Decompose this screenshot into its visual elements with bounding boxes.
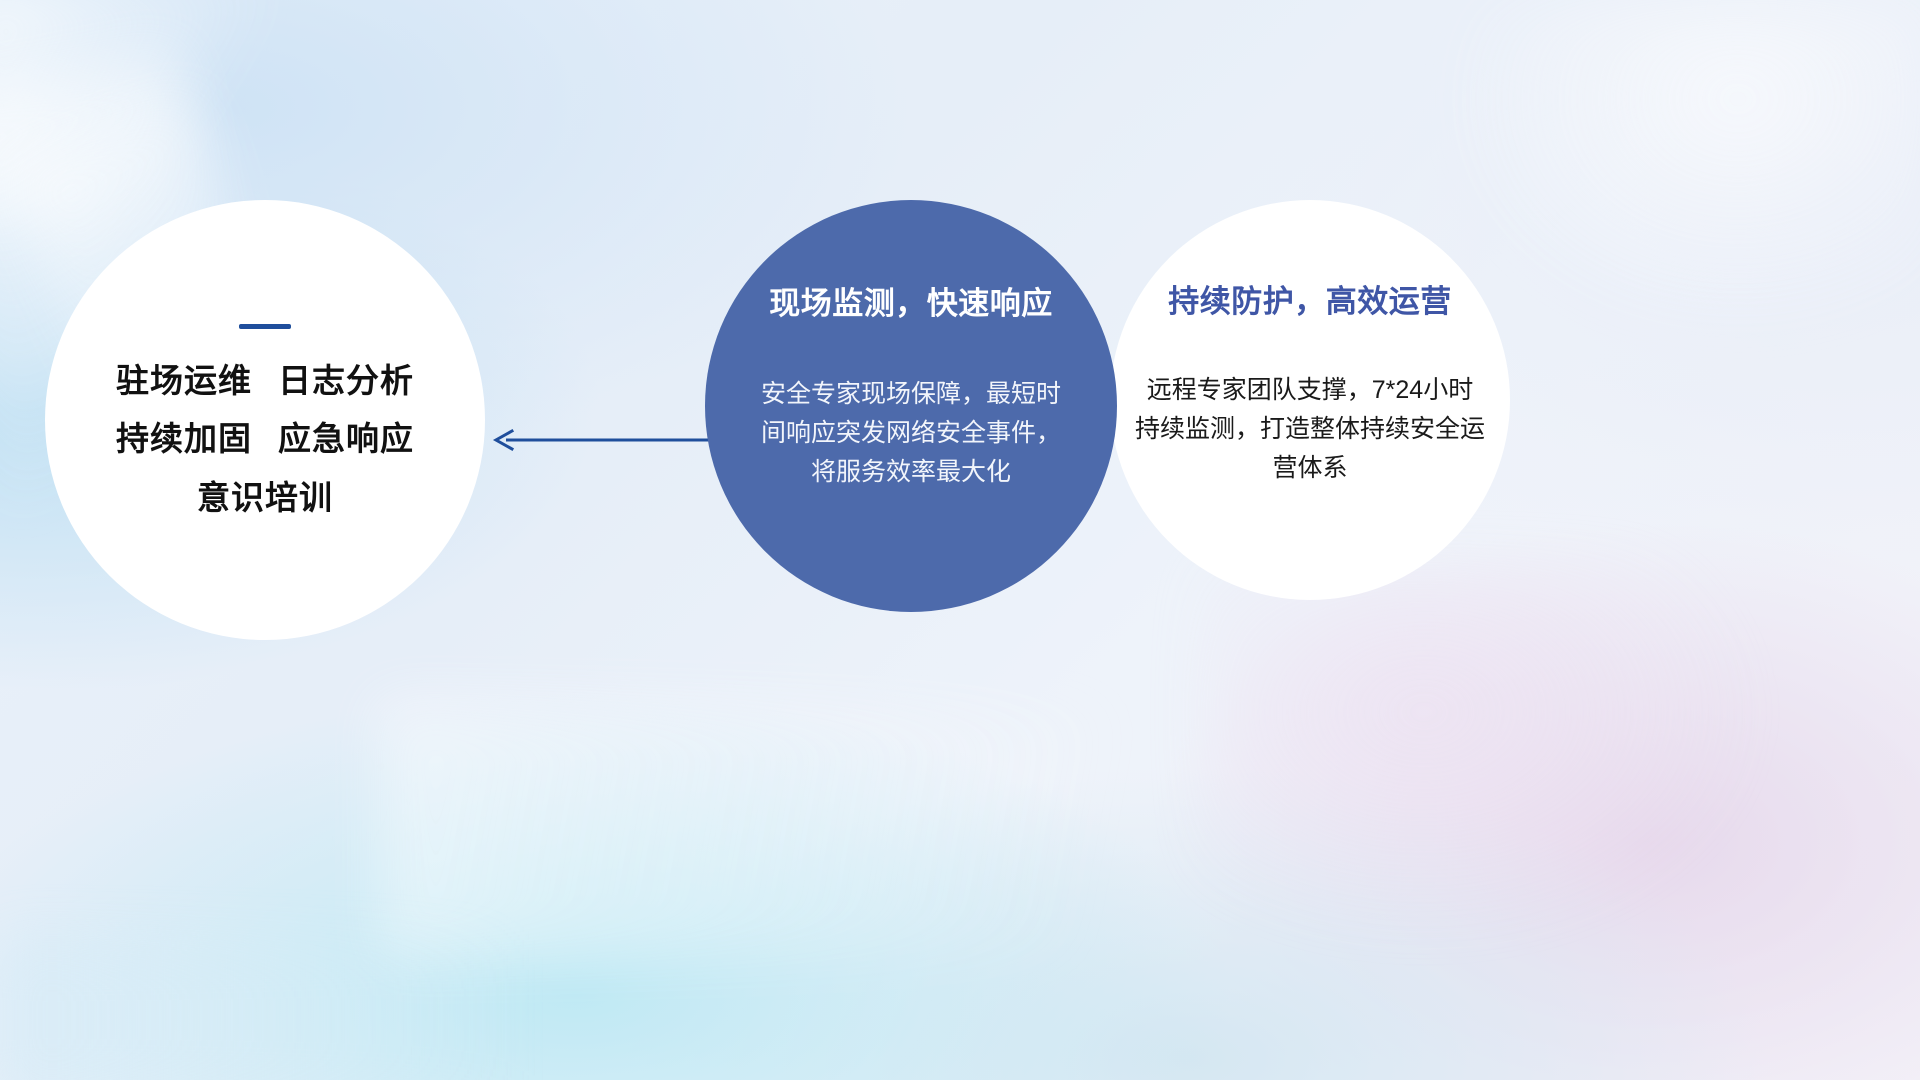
capability-item-zhuchangyunwei: 驻场运维: [116, 362, 252, 399]
slide-canvas: 驻场运维日志分析 持续加固应急响应 意识培训 持续防护，高效运营 远程专家团队支…: [0, 0, 1920, 1080]
capability-row-1: 驻场运维日志分析: [116, 363, 414, 399]
middle-circle-title: 现场监测，快速响应: [769, 278, 1053, 323]
capability-row-3: 意识培训: [197, 480, 333, 516]
feature-circle-right[interactable]: 持续防护，高效运营 远程专家团队支撑，7*24小时持续监测，打造整体持续安全运营…: [1110, 200, 1510, 600]
feature-circle-middle[interactable]: 现场监测，快速响应 安全专家现场保障，最短时间响应突发网络安全事件，将服务效率最…: [705, 200, 1117, 612]
middle-circle-body: 安全专家现场保障，最短时间响应突发网络安全事件，将服务效率最大化: [761, 375, 1061, 491]
title-divider: [239, 324, 291, 329]
right-circle-title: 持续防护，高效运营: [1168, 276, 1452, 321]
capability-row-2: 持续加固应急响应: [116, 421, 414, 457]
background-streak-6: [1450, 0, 1920, 330]
capability-circle-left[interactable]: 驻场运维日志分析 持续加固应急响应 意识培训: [45, 200, 485, 640]
capability-item-yingjixiangying: 应急响应: [278, 420, 414, 457]
capability-item-yishipeixun: 意识培训: [197, 479, 333, 516]
flow-arrow-icon: [490, 418, 720, 462]
background-streak-4: [380, 700, 1280, 960]
right-circle-body: 远程专家团队支撑，7*24小时持续监测，打造整体持续安全运营体系: [1135, 371, 1485, 487]
background-streak-7: [0, 940, 620, 1080]
capability-item-rizhifenxi: 日志分析: [278, 362, 414, 399]
capability-list: 驻场运维日志分析 持续加固应急响应 意识培训: [116, 363, 414, 516]
background-streak-5: [1200, 560, 1760, 940]
capability-item-chixujiagu: 持续加固: [116, 420, 252, 457]
